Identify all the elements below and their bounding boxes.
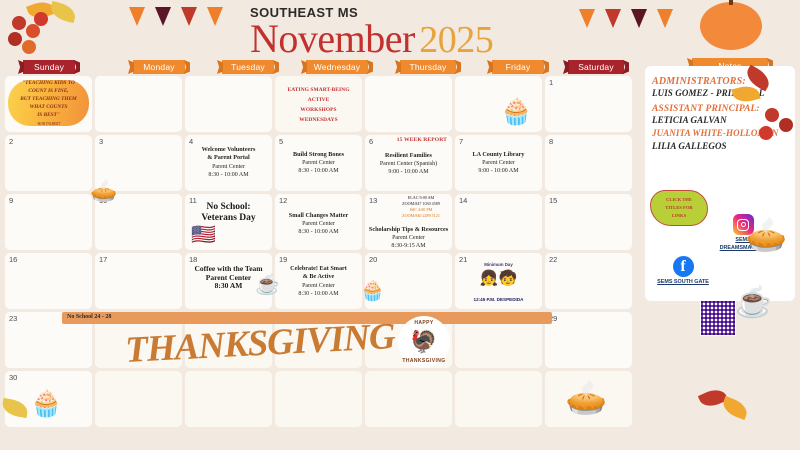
event-time: 8:30 - 10:00 AM: [278, 228, 359, 236]
event-block: Build Strong Bones Parent Center 8:30 - …: [278, 151, 359, 176]
event-title: LA County Library: [458, 151, 539, 159]
cupcake-icon: 🧁: [30, 388, 62, 419]
badge-line-1: CLICK THE: [666, 197, 692, 202]
day-number: 23: [9, 314, 17, 323]
event-location: Parent Center: [188, 163, 269, 171]
click-titles-badge[interactable]: CLICK THE TITLES FOR LINKS: [650, 190, 708, 226]
day-header-label: Monday: [143, 62, 174, 72]
pie-decoration: 🥧: [745, 215, 787, 255]
wed-line-2: ACTIVE: [278, 95, 359, 105]
calendar-page: SOUTHEAST MS November 2025 Sunday Monday…: [0, 0, 800, 450]
happy-thanksgiving-badge: HAPPY 🦃 THANKSGIVING: [398, 316, 450, 368]
day-cell-empty[interactable]: [95, 371, 182, 427]
calendar-grid: "TEACHING KIDS TO COUNT IS FINE, BUT TEA…: [5, 76, 635, 430]
event-location: Parent Center: [278, 282, 359, 290]
day-number: 19: [279, 255, 287, 264]
day-number: 1: [549, 78, 553, 87]
assistant-principal-1: LETICIA GALVAN: [652, 114, 782, 127]
event-block: Small Changes Matter Parent Center 8:30 …: [278, 212, 359, 237]
day-header-label: Wednesday: [314, 62, 361, 72]
day-number: 8: [549, 137, 553, 146]
day-number: 3: [99, 137, 103, 146]
event-title: Celebrate! Eat Smart: [278, 265, 359, 273]
day-cell-empty[interactable]: [365, 76, 452, 132]
quote-cell: "TEACHING KIDS TO COUNT IS FINE, BUT TEA…: [5, 76, 92, 132]
click-titles-text: CLICK THE TITLES FOR LINKS: [665, 196, 692, 219]
quote-line-2: BUT TEACHING THEM WHAT COUNTS: [13, 96, 84, 112]
day-number: 4: [189, 137, 193, 146]
day-header-label: Saturday: [578, 62, 614, 72]
wednesday-program-cell[interactable]: EATING SMART-BEING ACTIVE WORKSHOPS WEDN…: [275, 76, 362, 132]
administrators-heading: ADMINISTRATORS:: [652, 76, 782, 87]
day-cell-11[interactable]: 11 No School: Veterans Day 🇺🇸: [185, 194, 272, 250]
day-header-monday: Monday: [133, 60, 185, 74]
badge-bottom-text: THANKSGIVING: [398, 358, 450, 364]
day-number: 30: [9, 373, 17, 382]
event-block: Celebrate! Eat Smart & Be Active Parent …: [278, 265, 359, 298]
usa-flag-icon: 🇺🇸: [191, 222, 216, 247]
event-block: Scholarship Tips & Resources Parent Cent…: [368, 226, 449, 250]
calendar-week-row: "TEACHING KIDS TO COUNT IS FINE, BUT TEA…: [5, 76, 635, 132]
day-number: 16: [9, 255, 17, 264]
minimum-day-label: Minimum Day: [455, 262, 542, 267]
event-location: Parent Center: [368, 234, 449, 242]
day-cell-29[interactable]: 29: [545, 312, 632, 368]
quote-bubble: "TEACHING KIDS TO COUNT IS FINE, BUT TEA…: [8, 80, 89, 126]
no-school-line-1: No School:: [185, 202, 272, 213]
day-cell-2[interactable]: 2: [5, 135, 92, 191]
event-title: Small Changes Matter: [278, 212, 359, 220]
day-cell-empty[interactable]: [185, 371, 272, 427]
page-title: SOUTHEAST MS November 2025: [250, 6, 493, 58]
event-block: Welcome Volunteers & Parent Portal Paren…: [188, 146, 269, 179]
calendar-week-row-thanksgiving: 23 24 25 26 27 28 29 No School 24 - 28: [5, 312, 635, 368]
day-number: 22: [549, 255, 557, 264]
day-header-label: Thursday: [409, 62, 446, 72]
event-time: 9:00 - 10:00 AM: [368, 168, 449, 176]
day-cell-17[interactable]: 17: [95, 253, 182, 309]
event-time: 8:30 - 10:00 AM: [278, 167, 359, 175]
notes-content: ADMINISTRATORS: LUIS GOMEZ - PRINCIPAL A…: [652, 76, 782, 153]
latte-icon: ☕: [255, 272, 280, 297]
day-number: 20: [369, 255, 377, 264]
day-header-tuesday: Tuesday: [222, 60, 274, 74]
event-block: LA County Library Parent Center 9:00 - 1…: [458, 151, 539, 176]
mug-decoration: ☕: [735, 285, 772, 320]
day-header-thursday: Thursday: [400, 60, 456, 74]
day-cell-21[interactable]: 21 Minimum Day 👧🧒 12:45 P.M. DESPEDIDA: [455, 253, 542, 309]
assistant-principal-3: LILIA GALLEGOS: [652, 140, 782, 153]
event-title: Build Strong Bones: [278, 151, 359, 159]
day-number: 9: [9, 196, 13, 205]
day-number: 15: [549, 196, 557, 205]
day-cell-22[interactable]: 22: [545, 253, 632, 309]
despedida-label: 12:45 P.M. DESPEDIDA: [455, 297, 542, 302]
pumpkin-pie-icon: 🥧: [565, 378, 607, 418]
day-cell-empty[interactable]: [365, 371, 452, 427]
event-location: Parent Center: [458, 159, 539, 167]
wednesday-program-text: EATING SMART-BEING ACTIVE WORKSHOPS WEDN…: [278, 85, 359, 125]
turkey-icon: 🦃: [410, 331, 437, 353]
day-cell-5[interactable]: 5 Build Strong Bones Parent Center 8:30 …: [275, 135, 362, 191]
event-title-2: & Be Active: [278, 273, 359, 281]
event-time: 9:00 - 10:00 AM: [458, 167, 539, 175]
event-time: 8:30 - 10:00 AM: [188, 171, 269, 179]
event-block: Resilient Families Parent Center (Spanis…: [368, 152, 449, 177]
day-number: 7: [459, 137, 463, 146]
students-icon: 👧🧒: [455, 269, 542, 287]
day-header-label: Sunday: [34, 62, 64, 72]
event-title-2: & Parent Portal: [188, 154, 269, 162]
no-school-note: No School: Veterans Day: [185, 202, 272, 224]
day-cell-empty[interactable]: [275, 371, 362, 427]
quote-author: -BOB TALBERT: [37, 122, 61, 126]
no-school-banner: [62, 312, 552, 324]
facebook-icon: f: [673, 256, 694, 277]
facebook-label: SEMS SOUTH GATE: [652, 279, 714, 287]
day-cell-13[interactable]: 13 ELAC 9:00 AM ZOOM:847 1030 4589 SSC 4…: [365, 194, 452, 250]
badge-line-3: LINKS: [672, 213, 686, 218]
day-number: 17: [99, 255, 107, 264]
day-cell-8[interactable]: 8: [545, 135, 632, 191]
event-time: 8:30-9:15 AM: [368, 242, 449, 250]
day-number: 5: [279, 137, 283, 146]
day-header-friday: Friday: [492, 60, 544, 74]
day-cell-empty[interactable]: [185, 76, 272, 132]
pennant-banner-right: [575, 4, 685, 30]
year-label: 2025: [419, 19, 493, 61]
day-cell-9[interactable]: 9: [5, 194, 92, 250]
pennant-banner-left: [125, 2, 235, 28]
zoom-meeting-block: ELAC 9:00 AM ZOOM:847 1030 4589 SSC 4:00…: [393, 195, 449, 220]
day-cell-1[interactable]: 1: [545, 76, 632, 132]
cupcake-icon: 🧁: [500, 96, 532, 127]
event-time: 8:30 - 10:00 AM: [278, 290, 359, 298]
pumpkin-decoration: [700, 2, 762, 50]
cupcake-icon: 🧁: [360, 278, 385, 303]
day-number: 6: [369, 137, 373, 146]
pie-slice-icon: 🥧: [90, 178, 117, 204]
event-location: Parent Center: [278, 220, 359, 228]
day-cell-12[interactable]: 12 Small Changes Matter Parent Center 8:…: [275, 194, 362, 250]
wed-line-1: EATING SMART-BEING: [278, 85, 359, 95]
event-title: Resilient Families: [368, 152, 449, 160]
day-header-saturday: Saturday: [568, 60, 624, 74]
ssc-zoom-id: ZOOM:840 2289 5121: [393, 213, 449, 219]
day-header-wednesday: Wednesday: [306, 60, 368, 74]
badge-line-2: TITLES FOR: [665, 205, 692, 210]
qr-code[interactable]: [700, 300, 736, 336]
event-title: Scholarship Tips & Resources: [368, 226, 449, 234]
day-number: 2: [9, 137, 13, 146]
principal-name: LUIS GOMEZ - PRINCIPAL: [652, 87, 782, 100]
day-cell-15[interactable]: 15: [545, 194, 632, 250]
day-number: 12: [279, 196, 287, 205]
quote-line-3: IS BEST": [37, 112, 60, 120]
day-number: 18: [189, 255, 197, 264]
day-cell-14[interactable]: 14: [455, 194, 542, 250]
day-cell-empty[interactable]: [95, 76, 182, 132]
day-cell-6[interactable]: 6 15 WEEK REPORT Resilient Families Pare…: [365, 135, 452, 191]
event-title: Welcome Volunteers: [188, 146, 269, 154]
quote-line-1: "TEACHING KIDS TO COUNT IS FINE,: [13, 80, 84, 96]
calendar-week-row: 16 17 18 Coffee with the Team Parent Cen…: [5, 253, 635, 309]
day-header-label: Tuesday: [231, 62, 265, 72]
no-school-banner-label: No School 24 - 28: [67, 314, 111, 320]
day-number: 14: [459, 196, 467, 205]
day-header-label: Friday: [506, 62, 531, 72]
badge-top-text: HAPPY: [398, 320, 450, 326]
day-cell-16[interactable]: 16: [5, 253, 92, 309]
calendar-week-row: 30: [5, 371, 635, 427]
wed-line-3: WORKSHOPS: [278, 105, 359, 115]
day-header-sunday: Sunday: [23, 60, 75, 74]
assistant-principal-heading: ASSISTANT PRINCIPAL:: [652, 104, 782, 114]
facebook-link[interactable]: f SEMS SOUTH GATE: [652, 256, 714, 287]
week-report-tag: 15 WEEK REPORT: [397, 137, 447, 143]
day-cell-empty[interactable]: [455, 371, 542, 427]
month-label: November: [250, 16, 415, 61]
day-cell-4[interactable]: 4 Welcome Volunteers & Parent Portal Par…: [185, 135, 272, 191]
day-cell-19[interactable]: 19 Celebrate! Eat Smart & Be Active Pare…: [275, 253, 362, 309]
event-location: Parent Center (Spanish): [368, 160, 449, 168]
day-number: 13: [369, 196, 377, 205]
day-cell-7[interactable]: 7 LA County Library Parent Center 9:00 -…: [455, 135, 542, 191]
wed-line-4: WEDNESDAYS: [278, 115, 359, 125]
event-location: Parent Center: [278, 159, 359, 167]
assistant-principal-2: JUANITA WHITE-HOLLOMAN: [652, 127, 782, 140]
